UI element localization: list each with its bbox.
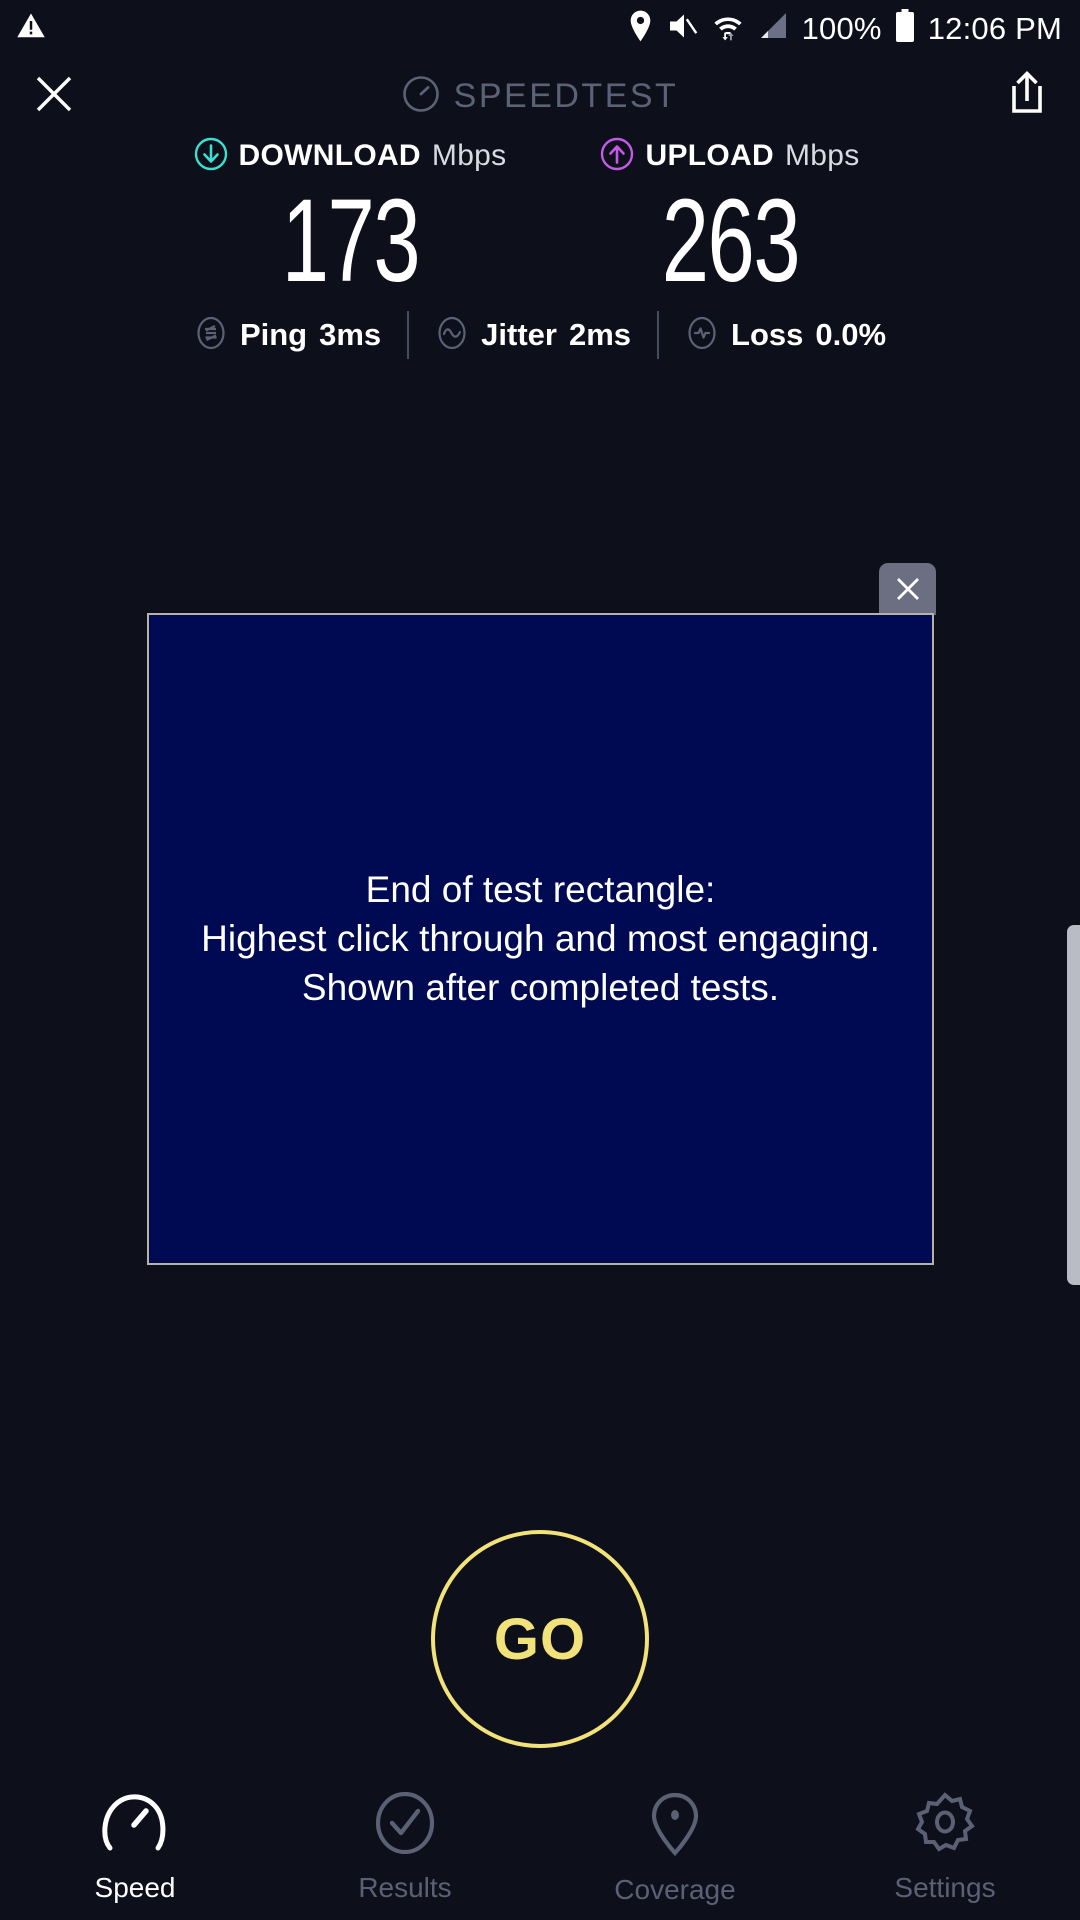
wifi-icon	[712, 10, 744, 47]
brand-label: SPEEDTEST	[454, 77, 679, 116]
loss-label: Loss	[731, 317, 803, 353]
cellular-signal-icon	[757, 11, 789, 46]
loss-icon	[685, 316, 719, 355]
connection-stats-row: Ping 3ms Jitter 2ms Loss 0.0	[0, 305, 1080, 365]
clock-label: 12:06 PM	[928, 13, 1062, 44]
arrow-up-circle-icon	[600, 137, 634, 176]
ping-value: 3ms	[319, 317, 381, 353]
speedometer-icon	[101, 1792, 169, 1859]
nav-item-results[interactable]: Results	[270, 1792, 540, 1904]
volume-mute-icon	[667, 11, 699, 46]
nav-label-coverage: Coverage	[614, 1874, 735, 1906]
ad-text-block: End of test rectangle: Highest click thr…	[149, 866, 932, 1012]
ad-rectangle[interactable]: End of test rectangle: Highest click thr…	[147, 613, 934, 1265]
go-button-label: GO	[494, 1606, 586, 1673]
nav-label-speed: Speed	[95, 1872, 176, 1904]
page-scrollbar[interactable]	[1067, 925, 1080, 1285]
app-header: SPEEDTEST	[0, 56, 1080, 136]
share-icon	[1004, 70, 1050, 118]
warning-triangle-icon	[16, 11, 46, 46]
battery-full-icon	[895, 9, 915, 48]
ad-line-3: Shown after completed tests.	[163, 963, 918, 1012]
status-bar-left	[16, 11, 46, 46]
nav-item-settings[interactable]: Settings	[810, 1792, 1080, 1904]
close-icon	[892, 573, 924, 605]
download-value: 173	[281, 182, 418, 300]
ping-label: Ping	[240, 317, 307, 353]
advertisement-banner[interactable]: End of test rectangle: Highest click thr…	[147, 613, 934, 1265]
speed-metrics-row: DOWNLOAD Mbps 173 UPLOAD Mbps 263	[0, 136, 1080, 300]
nav-label-settings: Settings	[894, 1872, 995, 1904]
results-summary: DOWNLOAD Mbps 173 UPLOAD Mbps 263	[0, 136, 1080, 300]
ad-close-button[interactable]	[879, 563, 936, 615]
nav-item-speed[interactable]: Speed	[0, 1792, 270, 1904]
loss-value: 0.0%	[815, 317, 886, 353]
go-button[interactable]: GO	[431, 1530, 649, 1748]
jitter-value: 2ms	[569, 317, 631, 353]
upload-label-row: UPLOAD Mbps	[600, 136, 859, 176]
arrow-down-circle-icon	[194, 137, 228, 176]
download-label-row: DOWNLOAD Mbps	[194, 136, 507, 176]
battery-percent-label: 100%	[802, 13, 882, 44]
loss-stat: Loss 0.0%	[659, 316, 912, 355]
ad-line-1: End of test rectangle:	[163, 866, 918, 915]
nav-item-coverage[interactable]: Coverage	[540, 1792, 810, 1906]
upload-metric: UPLOAD Mbps 263	[540, 136, 920, 300]
upload-unit: Mbps	[785, 139, 860, 173]
speedtest-app-screen: 100% 12:06 PM SPEEDTEST	[0, 0, 1080, 1920]
check-circle-icon	[372, 1792, 438, 1859]
ping-icon	[194, 316, 228, 355]
upload-value: 263	[661, 182, 798, 300]
share-button[interactable]	[1004, 70, 1050, 123]
download-unit: Mbps	[432, 139, 507, 173]
bottom-navigation-bar: Speed Results Coverage	[0, 1782, 1080, 1920]
ad-line-2: Highest click through and most engaging.	[163, 915, 918, 964]
upload-label: UPLOAD	[645, 139, 773, 173]
status-bar: 100% 12:06 PM	[0, 0, 1080, 56]
jitter-stat: Jitter 2ms	[409, 316, 657, 355]
nav-label-results: Results	[358, 1872, 451, 1904]
status-bar-right: 100% 12:06 PM	[627, 9, 1062, 48]
location-pin-icon	[627, 10, 654, 47]
close-icon	[30, 70, 78, 118]
app-title: SPEEDTEST	[0, 75, 1080, 118]
map-pin-icon	[647, 1792, 703, 1861]
close-button[interactable]	[30, 70, 78, 123]
download-metric: DOWNLOAD Mbps 173	[160, 136, 540, 300]
download-label: DOWNLOAD	[239, 139, 421, 173]
jitter-icon	[435, 316, 469, 355]
ping-stat: Ping 3ms	[168, 316, 407, 355]
jitter-label: Jitter	[481, 317, 557, 353]
gear-icon	[913, 1792, 977, 1859]
speedometer-icon	[402, 75, 440, 118]
